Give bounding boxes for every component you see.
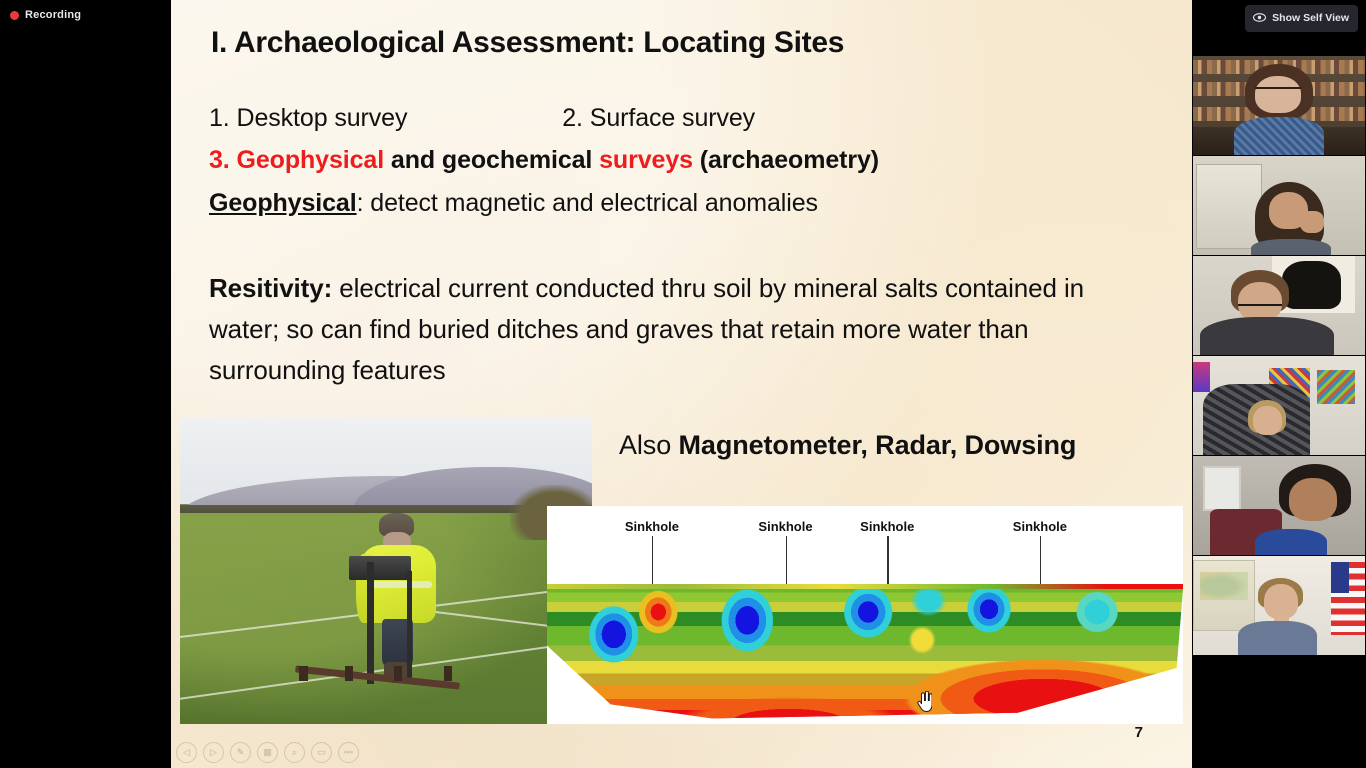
geo-line-red-1: Geophysical	[237, 146, 385, 174]
recording-dot-icon	[10, 11, 19, 20]
survey-item-1: 1. Desktop survey	[209, 104, 407, 132]
sinkhole-label: Sinkhole	[758, 519, 812, 534]
pointing-hand-cursor	[916, 691, 932, 717]
resistivity-surface-edge	[547, 584, 1183, 589]
survey-items-row: 1. Desktop survey 2. Surface survey	[209, 104, 1149, 133]
ellipsis-icon: •••	[344, 748, 353, 757]
meter-probe	[394, 666, 402, 681]
tile-flag	[1331, 562, 1365, 635]
meter-pole	[367, 562, 374, 684]
meter-probe	[299, 666, 307, 681]
slide-grid-button[interactable]: ▦	[257, 742, 278, 763]
meter-probe	[444, 666, 452, 681]
next-slide-button[interactable]: ▷	[203, 742, 224, 763]
geo-line-black-2: (archaeometry)	[693, 146, 879, 174]
resistivity-meter-box	[349, 556, 411, 580]
tile-door	[1196, 164, 1261, 249]
geo-detect-rest: : detect magnetic and electrical anomali…	[357, 189, 818, 217]
meter-probe	[345, 666, 353, 681]
geophysical-surveys-line: 3. Geophysical and geochemical surveys (…	[209, 146, 1169, 175]
participant-torso	[1238, 621, 1317, 655]
participant-filmstrip[interactable]	[1192, 0, 1366, 768]
participant-face	[1289, 478, 1337, 522]
tile-wall-art	[1193, 362, 1210, 392]
participant-face	[1238, 282, 1283, 322]
meter-pole	[407, 571, 413, 681]
participant-tile[interactable]	[1193, 556, 1365, 655]
recording-indicator: Recording	[10, 9, 81, 21]
resistivity-section-figure: Sinkhole Sinkhole Sinkhole Sinkhole	[547, 506, 1183, 724]
field-survey-photo	[180, 418, 592, 724]
survey-item-2: 2. Surface survey	[562, 104, 755, 132]
show-self-view-label: Show Self View	[1272, 12, 1349, 24]
chevron-left-icon: ◁	[183, 748, 190, 757]
participant-torso	[1251, 239, 1330, 255]
shared-slide[interactable]: I. Archaeological Assessment: Locating S…	[171, 0, 1195, 768]
resistivity-contour-fill	[547, 584, 1183, 724]
pen-tool-button[interactable]: ✎	[230, 742, 251, 763]
resistivity-paragraph: Resitivity: electrical current conducted…	[209, 268, 1139, 391]
geo-detect-lead: Geophysical	[209, 189, 357, 217]
recording-label: Recording	[25, 9, 81, 21]
presenter-toolbar[interactable]: ◁ ▷ ✎ ▦ ⌕ ▭ •••	[176, 742, 359, 763]
participant-face	[1253, 406, 1282, 436]
resistivity-body: electrical current conducted thru soil b…	[209, 273, 1084, 385]
participant-tile[interactable]	[1193, 456, 1365, 555]
tile-wall-art	[1317, 370, 1355, 404]
tile-wall-map	[1193, 560, 1255, 631]
participant-tile[interactable]	[1193, 356, 1365, 455]
also-methods-line: Also Magnetometer, Radar, Dowsing	[619, 430, 1179, 461]
resistivity-colour-section	[547, 584, 1183, 724]
participant-glasses	[1238, 304, 1283, 312]
previous-slide-button[interactable]: ◁	[176, 742, 197, 763]
sinkhole-leader-line	[887, 536, 889, 590]
participant-torso	[1234, 117, 1323, 155]
pen-icon: ✎	[237, 748, 245, 757]
participant-tile[interactable]	[1193, 56, 1365, 155]
sinkhole-label: Sinkhole	[860, 519, 914, 534]
eye-icon	[1253, 9, 1266, 27]
participant-torso	[1255, 529, 1327, 555]
show-self-view-button[interactable]: Show Self View	[1245, 5, 1358, 32]
slide-title: I. Archaeological Assessment: Locating S…	[211, 26, 1151, 60]
geo-line-red-2: surveys	[599, 146, 693, 174]
sinkhole-leader-line	[1040, 536, 1042, 588]
slide-number: 7	[1135, 724, 1143, 741]
participant-glasses	[1255, 87, 1301, 94]
magnifier-icon: ⌕	[292, 748, 297, 757]
more-options-button[interactable]: •••	[338, 742, 359, 763]
participant-tile[interactable]	[1193, 256, 1365, 355]
tile-window	[1203, 466, 1241, 512]
present-view-button[interactable]: ▭	[311, 742, 332, 763]
resistivity-lead: Resitivity:	[209, 273, 332, 303]
geo-line-black-1: and geochemical	[384, 146, 599, 174]
screen-icon: ▭	[317, 748, 326, 757]
also-methods: Magnetometer, Radar, Dowsing	[679, 430, 1077, 460]
sinkhole-label: Sinkhole	[1013, 519, 1067, 534]
grid-icon: ▦	[263, 748, 272, 757]
sinkhole-label: Sinkhole	[625, 519, 679, 534]
participant-hand	[1300, 211, 1324, 233]
geo-line-number: 3.	[209, 146, 237, 174]
also-prefix: Also	[619, 430, 679, 460]
zoom-tool-button[interactable]: ⌕	[284, 742, 305, 763]
geophysical-definition-line: Geophysical: detect magnetic and electri…	[209, 189, 1169, 218]
participant-torso	[1200, 317, 1334, 355]
chevron-right-icon: ▷	[210, 748, 217, 757]
participant-face	[1255, 76, 1301, 114]
participant-tile[interactable]	[1193, 156, 1365, 255]
